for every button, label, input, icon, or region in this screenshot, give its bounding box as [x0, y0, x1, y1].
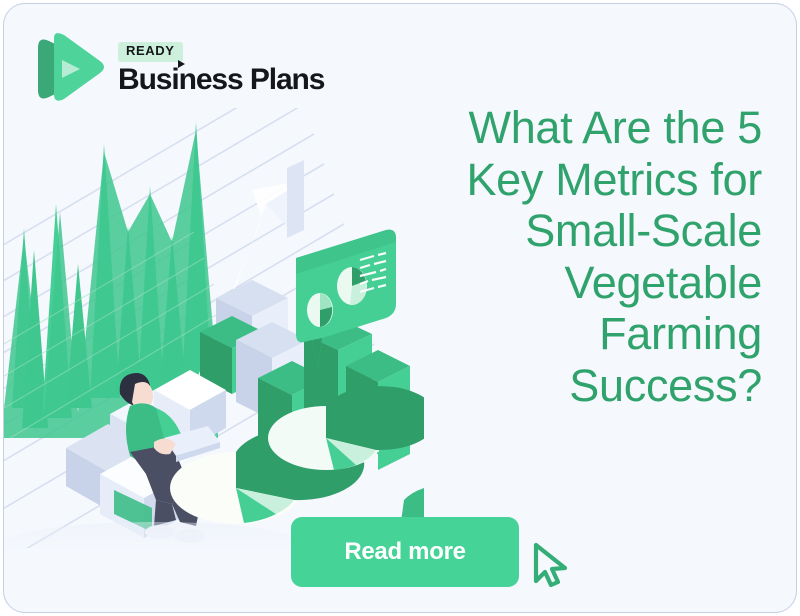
- play-accent-icon: [178, 60, 185, 68]
- brand-name: Business Plans: [118, 63, 324, 97]
- brand-name-text: Business Plans: [118, 63, 324, 96]
- bubble-pie-small: [307, 293, 333, 327]
- headline-line-5: Farming: [342, 308, 762, 360]
- arrow-side-panel: [287, 160, 304, 238]
- headline-line-1: What Are the 5: [342, 102, 762, 154]
- headline-line-6: Success?: [342, 360, 762, 412]
- play-arrow-logo-icon: [32, 30, 104, 108]
- read-more-button[interactable]: Read more: [291, 517, 519, 587]
- promo-banner-card: READY Business Plans What Are the 5 Key …: [3, 3, 797, 613]
- page-title: What Are the 5 Key Metrics for Small-Sca…: [342, 102, 762, 411]
- brand-logo-lockup[interactable]: READY Business Plans: [32, 30, 324, 108]
- cta-row: Read more: [291, 517, 575, 587]
- ready-badge: READY: [118, 42, 183, 62]
- mouse-pointer-arrow-icon: [529, 539, 575, 591]
- brand-text-block: READY Business Plans: [118, 42, 324, 97]
- ground-shadow: [4, 522, 304, 548]
- headline-line-4: Vegetable: [342, 257, 762, 309]
- headline-line-2: Key Metrics for: [342, 154, 762, 206]
- headline-line-3: Small-Scale: [342, 205, 762, 257]
